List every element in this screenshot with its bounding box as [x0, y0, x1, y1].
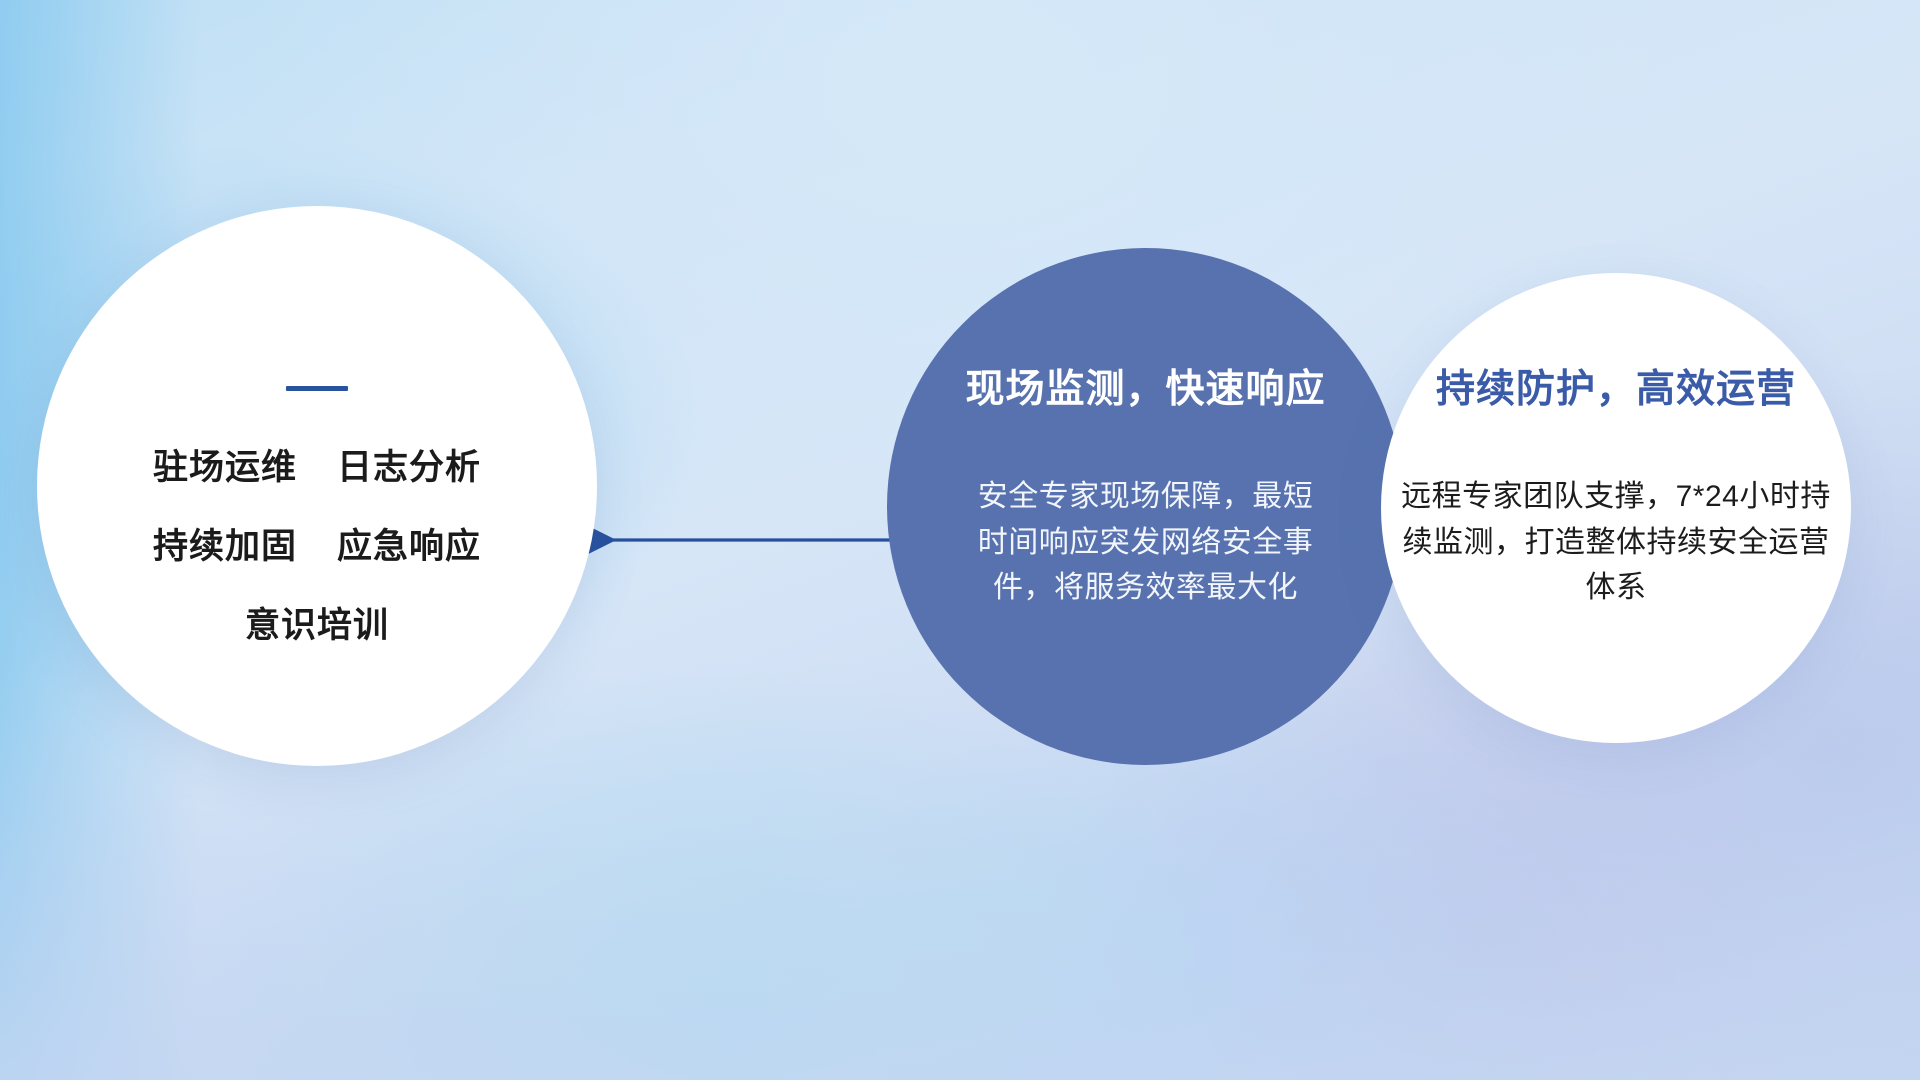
left-card-item: 意识培训	[245, 597, 389, 648]
middle-card: 现场监测，快速响应 安全专家现场保障，最短时间响应突发网络安全事件，将服务效率最…	[887, 248, 1404, 765]
connector-arrow	[580, 510, 900, 570]
middle-card-title: 现场监测，快速响应	[965, 358, 1325, 414]
left-card-item: 驻场运维	[153, 439, 297, 490]
left-card-row: 驻场运维 日志分析	[153, 439, 481, 490]
left-card-item: 日志分析	[337, 439, 481, 490]
right-card-body: 远程专家团队支撑，7*24小时持续监测，打造整体持续安全运营体系	[1401, 474, 1831, 611]
left-card-row: 意识培训	[245, 597, 389, 648]
right-card-title: 持续防护，高效运营	[1436, 358, 1796, 414]
left-card-item: 持续加固	[153, 518, 297, 569]
left-card-item: 应急响应	[337, 518, 481, 569]
left-card-row: 持续加固 应急响应	[153, 518, 481, 569]
left-card: 驻场运维 日志分析 持续加固 应急响应 意识培训	[37, 206, 597, 766]
middle-card-body: 安全专家现场保障，最短时间响应突发网络安全事件，将服务效率最大化	[976, 474, 1316, 611]
slide-canvas: 驻场运维 日志分析 持续加固 应急响应 意识培训 现场监测，快速响应 安全专家现…	[0, 0, 1920, 1080]
left-card-divider	[286, 386, 348, 391]
right-card: 持续防护，高效运营 远程专家团队支撑，7*24小时持续监测，打造整体持续安全运营…	[1381, 273, 1851, 743]
